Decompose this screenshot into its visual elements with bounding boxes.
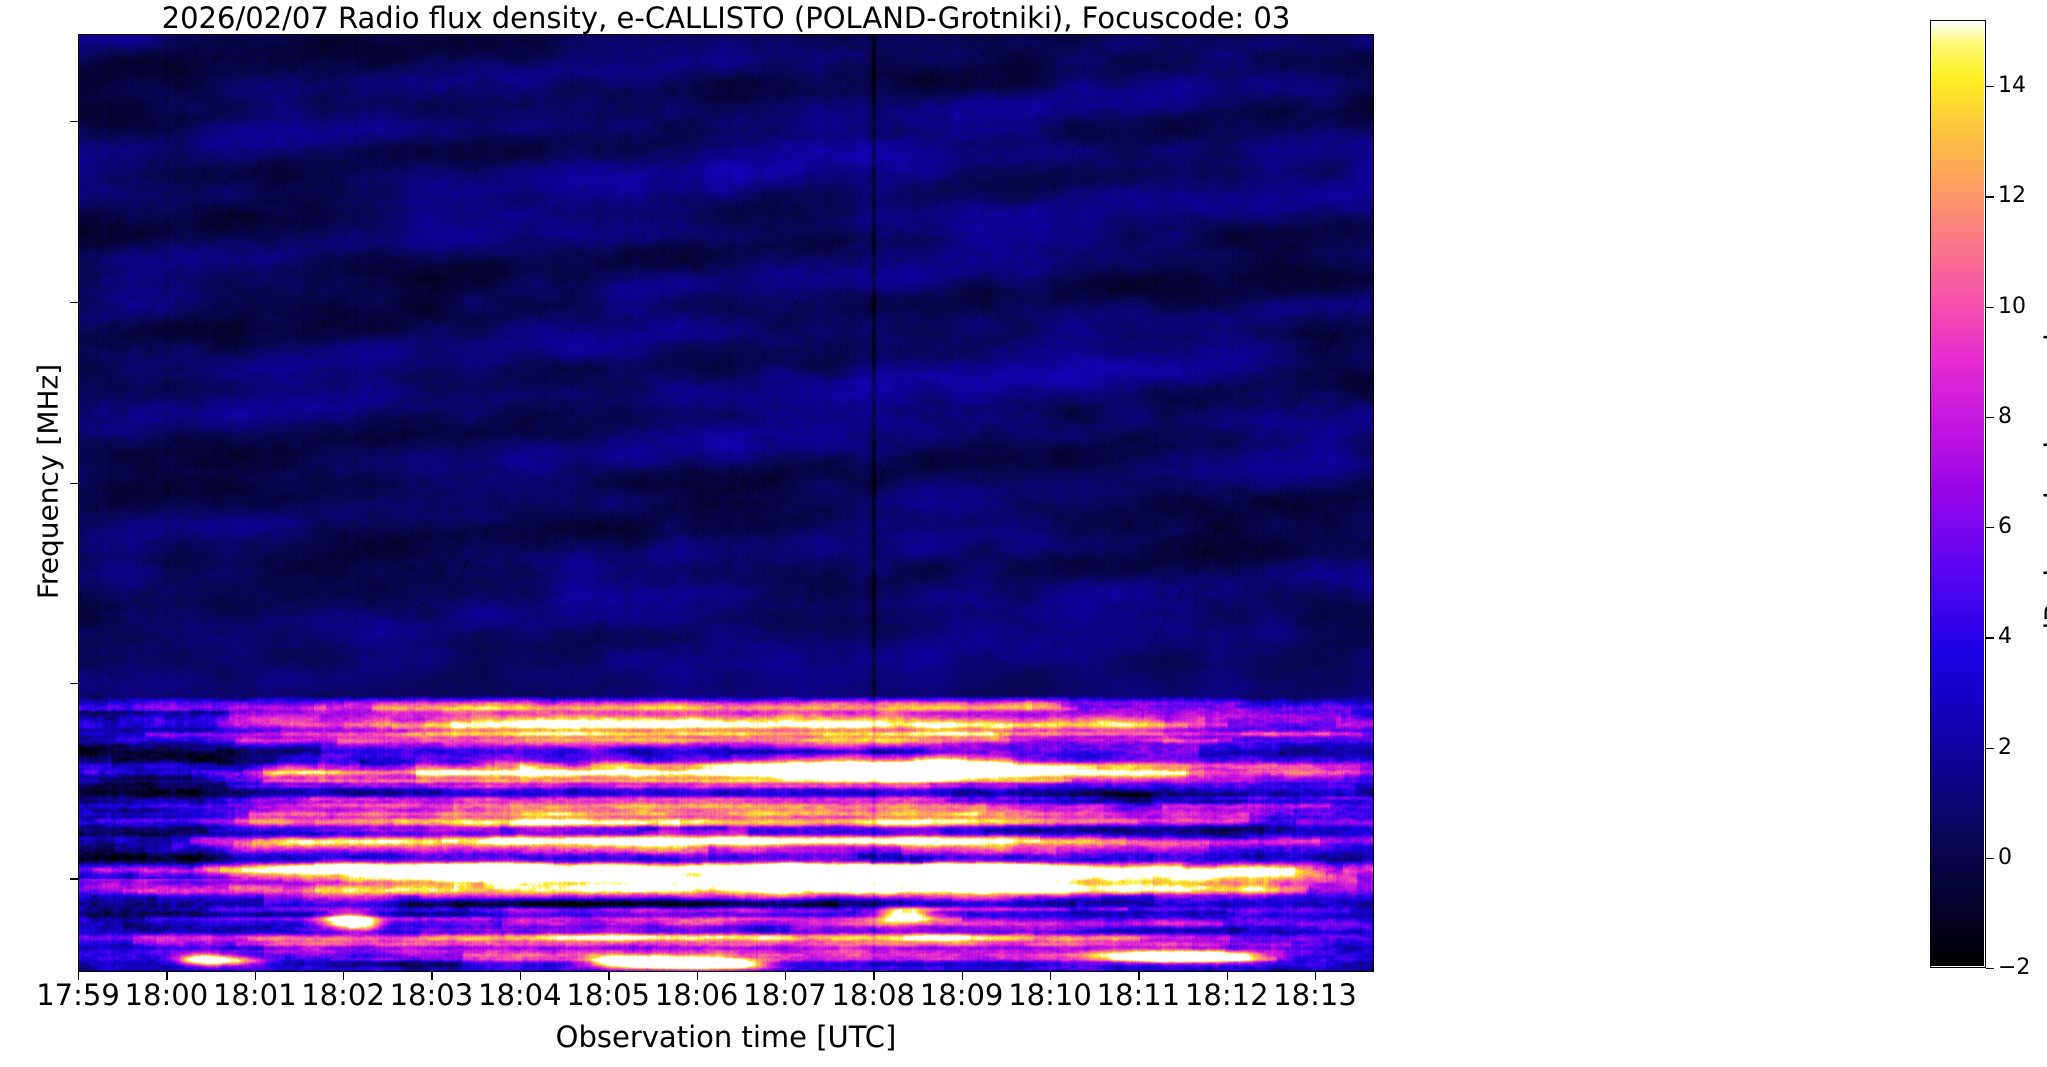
colorbar-tick-mark (1986, 748, 1994, 749)
y-tick-mark (70, 302, 78, 303)
colorbar-tick-label: 0 (1998, 847, 2047, 869)
plot-area (78, 34, 1374, 972)
spectrogram-image (79, 35, 1373, 971)
colorbar-tick-label: 14 (1998, 75, 2047, 97)
colorbar-tick-mark (1986, 307, 1994, 308)
colorbar-tick-mark (1986, 196, 1994, 197)
x-tick-mark (1227, 972, 1228, 980)
spectrogram-figure: 2026/02/07 Radio flux density, e-CALLIST… (0, 0, 2047, 1067)
colorbar-canvas (1931, 21, 1984, 966)
y-tick-mark (70, 683, 78, 684)
colorbar-tick-label: −2 (1998, 957, 2047, 979)
chart-title: 2026/02/07 Radio flux density, e-CALLIST… (78, 2, 1374, 34)
y-tick-mark (70, 483, 78, 484)
colorbar-gradient (1931, 21, 1985, 967)
x-tick-mark (78, 972, 79, 980)
y-tick-mark (70, 121, 78, 122)
x-tick-mark (697, 972, 698, 980)
x-tick-mark (431, 972, 432, 980)
x-tick-mark (785, 972, 786, 980)
x-tick-mark (873, 972, 874, 980)
y-tick-mark (70, 878, 78, 879)
colorbar-tick-mark (1986, 968, 1994, 969)
x-tick-mark (255, 972, 256, 980)
spectrogram-canvas (79, 35, 1374, 972)
colorbar-tick-mark (1986, 417, 1994, 418)
x-tick-mark (166, 972, 167, 980)
x-tick-mark (343, 972, 344, 980)
x-tick-mark (608, 972, 609, 980)
x-tick-mark (962, 972, 963, 980)
x-tick-label: 18:13 (1235, 980, 1395, 1010)
colorbar-tick-mark (1986, 527, 1994, 528)
x-tick-mark (520, 972, 521, 980)
colorbar-tick-mark (1986, 858, 1994, 859)
colorbar-tick-mark (1986, 637, 1994, 638)
colorbar (1930, 20, 1986, 968)
x-tick-mark (1138, 972, 1139, 980)
colorbar-label: dB above background (2039, 177, 2047, 797)
colorbar-tick-mark (1986, 86, 1994, 87)
y-axis-label: Frequency [MHz] (32, 82, 65, 882)
x-tick-mark (1315, 972, 1316, 980)
x-tick-mark (1050, 972, 1051, 980)
x-axis-label: Observation time [UTC] (78, 1020, 1374, 1054)
